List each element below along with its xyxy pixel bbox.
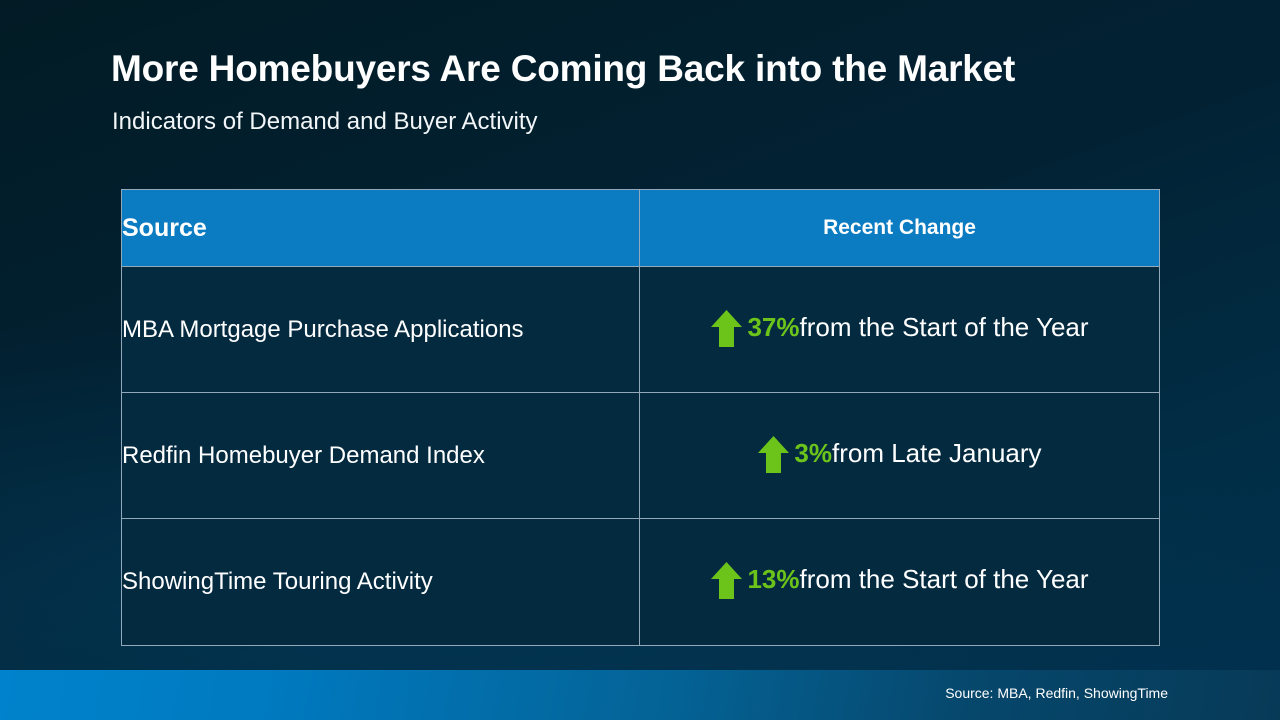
page-subtitle: Indicators of Demand and Buyer Activity [112, 108, 538, 136]
change-description: from Late January [832, 438, 1042, 469]
change-content: 13% from the Start of the Year [710, 560, 1088, 599]
cell-recent-change: 13% from the Start of the Year [640, 519, 1160, 646]
change-content: 3% from Late January [757, 434, 1041, 473]
table-row: MBA Mortgage Purchase Applications 37% f… [122, 267, 1160, 393]
cell-source: MBA Mortgage Purchase Applications [122, 267, 640, 393]
change-description: from the Start of the Year [799, 312, 1088, 343]
cell-recent-change: 3% from Late January [640, 393, 1160, 519]
table-row: ShowingTime Touring Activity 13% from th… [122, 519, 1160, 646]
change-percent: 3% [794, 438, 832, 469]
arrow-up-icon [710, 309, 743, 348]
footer-source-credit: Source: MBA, Redfin, ShowingTime [945, 685, 1168, 701]
change-percent: 37% [747, 312, 799, 343]
page-title: More Homebuyers Are Coming Back into the… [111, 48, 1015, 90]
cell-recent-change: 37% from the Start of the Year [640, 267, 1160, 393]
cell-source: ShowingTime Touring Activity [122, 519, 640, 646]
table-body: MBA Mortgage Purchase Applications 37% f… [122, 267, 1160, 646]
slide-canvas: More Homebuyers Are Coming Back into the… [0, 0, 1280, 720]
arrow-up-icon [757, 435, 790, 474]
column-header-source: Source [122, 190, 640, 267]
arrow-up-icon [710, 561, 743, 600]
change-description: from the Start of the Year [799, 564, 1088, 595]
table-header-row: Source Recent Change [122, 190, 1160, 267]
table-header: Source Recent Change [122, 190, 1160, 267]
change-content: 37% from the Start of the Year [710, 308, 1088, 347]
indicators-table: Source Recent Change MBA Mortgage Purcha… [121, 189, 1160, 646]
cell-source: Redfin Homebuyer Demand Index [122, 393, 640, 519]
table-row: Redfin Homebuyer Demand Index 3% from La… [122, 393, 1160, 519]
change-percent: 13% [747, 564, 799, 595]
column-header-recent-change: Recent Change [640, 190, 1160, 267]
